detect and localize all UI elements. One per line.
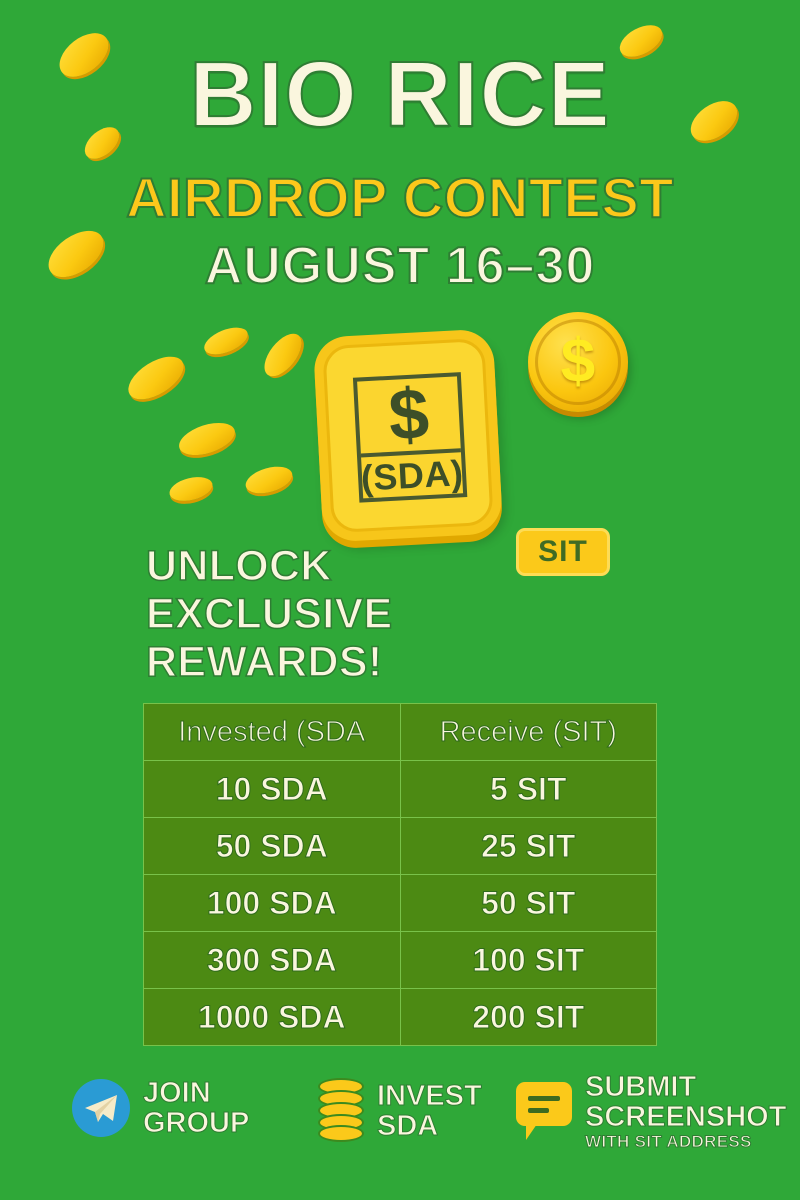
bubble-tail [526, 1124, 544, 1140]
cell-invested: 10 SDA [144, 761, 401, 818]
cta-line-1: INVEST [377, 1081, 482, 1111]
cell-invested: 1000 SDA [144, 989, 401, 1046]
promo-headline: UNLOCK EXCLUSIVE REWARDS! [146, 542, 392, 686]
cta-line-1: SUBMIT [585, 1072, 786, 1102]
cta-line-2: GROUP [143, 1108, 249, 1138]
contest-dates: AUGUST 16–30 [0, 240, 800, 292]
table-row: 300 SDA100 SIT [144, 932, 657, 989]
cta-submit-screenshot-label: SUBMIT SCREENSHOT WITH SIT ADDRESS [585, 1072, 786, 1151]
rice-grain-5 [121, 348, 191, 408]
rice-grain-6 [201, 322, 252, 360]
cell-invested: 100 SDA [144, 875, 401, 932]
bubble-line-1 [528, 1096, 560, 1101]
telegram-icon[interactable] [72, 1079, 130, 1137]
cell-invested: 50 SDA [144, 818, 401, 875]
chat-bubble-icon[interactable] [516, 1082, 572, 1140]
cta-line-2: SCREENSHOT [585, 1102, 786, 1132]
bubble-body [516, 1082, 572, 1126]
promo-line-1: UNLOCK [146, 542, 392, 590]
cta-join-group-label: JOIN GROUP [143, 1078, 249, 1139]
cta-invest-sda-label: INVEST SDA [377, 1081, 482, 1142]
bubble-line-2 [528, 1108, 549, 1113]
cell-receive: 5 SIT [400, 761, 657, 818]
promo-line-2: EXCLUSIVE [146, 590, 392, 638]
coin-dollar-symbol: $ [561, 331, 595, 393]
cell-invested: 300 SDA [144, 932, 401, 989]
rewards-table: Invested (SDA Receive (SIT) 10 SDA5 SIT5… [143, 703, 657, 1046]
sda-token-card: $ (SDA) [313, 328, 503, 542]
dollar-sign-icon: $ [357, 376, 461, 457]
cell-receive: 100 SIT [400, 932, 657, 989]
cta-invest-sda[interactable]: INVEST SDA [318, 1078, 482, 1144]
rice-grain-9 [167, 473, 215, 505]
cell-receive: 25 SIT [400, 818, 657, 875]
table-row: 100 SDA50 SIT [144, 875, 657, 932]
rice-grain-7 [257, 327, 308, 382]
cta-line-3: WITH SIT ADDRESS [585, 1133, 786, 1151]
cta-line-1: JOIN [143, 1078, 249, 1108]
cell-receive: 50 SIT [400, 875, 657, 932]
paper-plane-glyph [83, 1093, 119, 1124]
page-title: BIO RICE [0, 48, 800, 141]
table-row: 50 SDA25 SIT [144, 818, 657, 875]
token-ticker-label: (SDA) [361, 452, 463, 499]
cell-receive: 200 SIT [400, 989, 657, 1046]
promo-line-3: REWARDS! [146, 638, 392, 686]
table-row: 1000 SDA200 SIT [144, 989, 657, 1046]
rice-grain-10 [243, 462, 296, 498]
cta-line-2: SDA [377, 1111, 482, 1141]
table-header-row: Invested (SDA Receive (SIT) [144, 704, 657, 761]
token-card-inner: $ (SDA) [322, 338, 494, 533]
rice-grain-8 [175, 417, 239, 462]
column-header-receive: Receive (SIT) [400, 704, 657, 761]
coin-stack-icon[interactable] [318, 1078, 364, 1144]
cta-submit-screenshot[interactable]: SUBMIT SCREENSHOT WITH SIT ADDRESS [516, 1072, 786, 1151]
gold-coin-icon: $ [528, 312, 628, 412]
cta-join-group[interactable]: JOIN GROUP [72, 1078, 249, 1139]
column-header-invested: Invested (SDA [144, 704, 401, 761]
page-subtitle: AIRDROP CONTEST [0, 170, 800, 226]
sit-badge: SIT [516, 528, 610, 576]
token-card-box: $ (SDA) [353, 372, 467, 502]
table-row: 10 SDA5 SIT [144, 761, 657, 818]
